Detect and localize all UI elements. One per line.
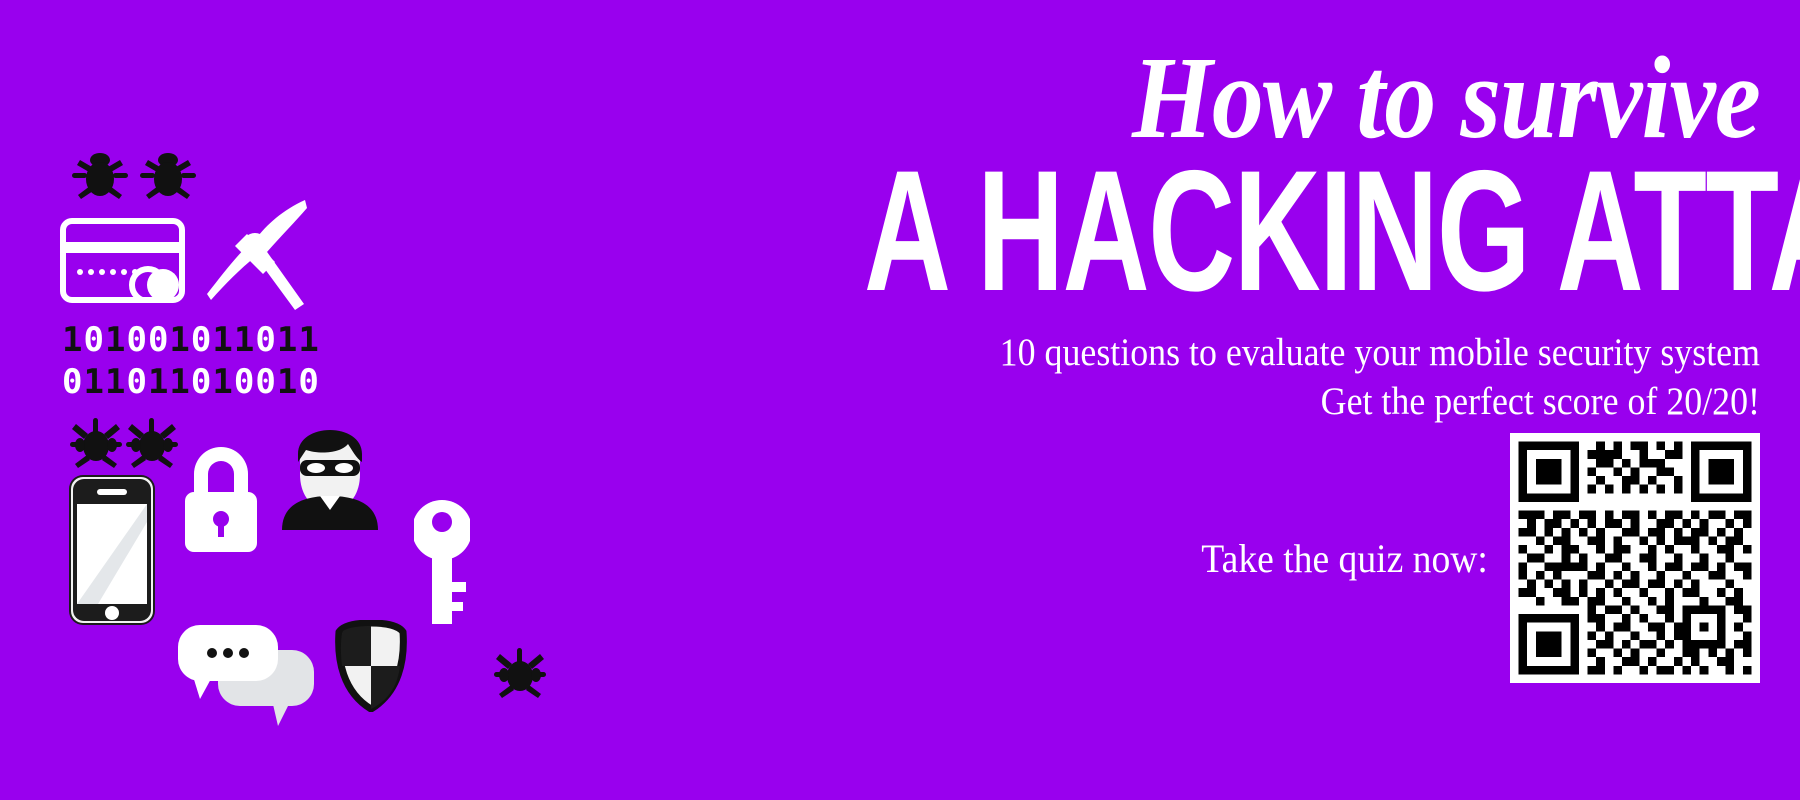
speech-bubble-icon bbox=[178, 625, 278, 701]
binary-row-1: 101001011011 bbox=[62, 320, 320, 360]
shield-icon bbox=[333, 620, 409, 712]
page-title: A HACKING ATTACK? bbox=[864, 158, 1760, 306]
cta-row: Take the quiz now: bbox=[480, 433, 1760, 683]
bug-icon bbox=[126, 418, 178, 470]
subtitle-line-2: Get the perfect score of 20/20! bbox=[582, 377, 1760, 427]
padlock-icon bbox=[178, 444, 264, 554]
headline-block: How to survive A HACKING ATTACK? 10 ques… bbox=[480, 40, 1760, 683]
smartphone-icon bbox=[68, 474, 156, 626]
promo-banner: 101001011011 011011010010 bbox=[0, 0, 1800, 800]
hacker-icon bbox=[276, 418, 384, 530]
cta-label: Take the quiz now: bbox=[1201, 535, 1488, 582]
bug-icon bbox=[72, 150, 128, 202]
subtitle-block: 10 questions to evaluate your mobile sec… bbox=[480, 328, 1760, 428]
bug-icon bbox=[140, 150, 196, 202]
bug-icon bbox=[70, 418, 122, 470]
pickaxe-icon bbox=[205, 196, 310, 311]
key-icon bbox=[414, 496, 470, 626]
binary-row-2: 011011010010 bbox=[62, 362, 320, 402]
subtitle-line-1: 10 questions to evaluate your mobile sec… bbox=[582, 328, 1760, 378]
qr-code[interactable] bbox=[1510, 433, 1760, 683]
credit-card-icon bbox=[60, 218, 185, 303]
